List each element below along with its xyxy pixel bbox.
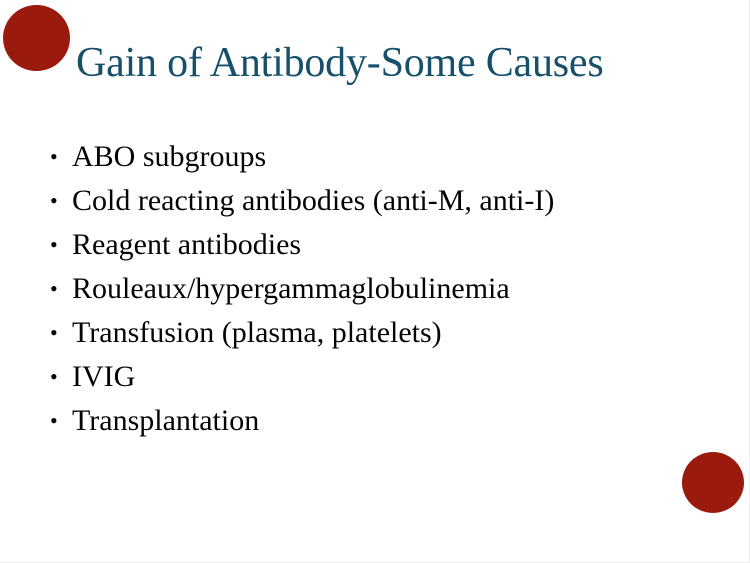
list-item-label: Cold reacting antibodies (anti-M, anti-I…	[72, 183, 740, 219]
list-item-label: Transplantation	[72, 403, 740, 439]
list-item: • ABO subgroups	[50, 139, 740, 183]
list-item-label: Reagent antibodies	[72, 227, 740, 263]
bullet-dot-icon: •	[50, 227, 72, 263]
list-item: • Rouleaux/hypergammaglobulinemia	[50, 271, 740, 315]
bullet-dot-icon: •	[50, 403, 72, 439]
list-item: • Transplantation	[50, 403, 740, 447]
list-item-label: IVIG	[72, 359, 740, 395]
bullet-list: • ABO subgroups • Cold reacting antibodi…	[50, 139, 740, 447]
list-item-label: Rouleaux/hypergammaglobulinemia	[72, 271, 740, 307]
slide-title: Gain of Antibody-Some Causes	[76, 42, 716, 84]
list-item: • Reagent antibodies	[50, 227, 740, 271]
list-item-label: ABO subgroups	[72, 139, 740, 175]
bullet-dot-icon: •	[50, 139, 72, 175]
list-item: • Cold reacting antibodies (anti-M, anti…	[50, 183, 740, 227]
bottom-right-circle-decoration	[682, 452, 744, 513]
list-item: • Transfusion (plasma, platelets)	[50, 315, 740, 359]
presentation-slide: Gain of Antibody-Some Causes • ABO subgr…	[0, 0, 750, 563]
bullet-dot-icon: •	[50, 359, 72, 395]
bullet-dot-icon: •	[50, 271, 72, 307]
bullet-dot-icon: •	[50, 183, 72, 219]
bullet-dot-icon: •	[50, 315, 72, 351]
top-left-circle-decoration	[3, 5, 70, 71]
list-item-label: Transfusion (plasma, platelets)	[72, 315, 740, 351]
list-item: • IVIG	[50, 359, 740, 403]
